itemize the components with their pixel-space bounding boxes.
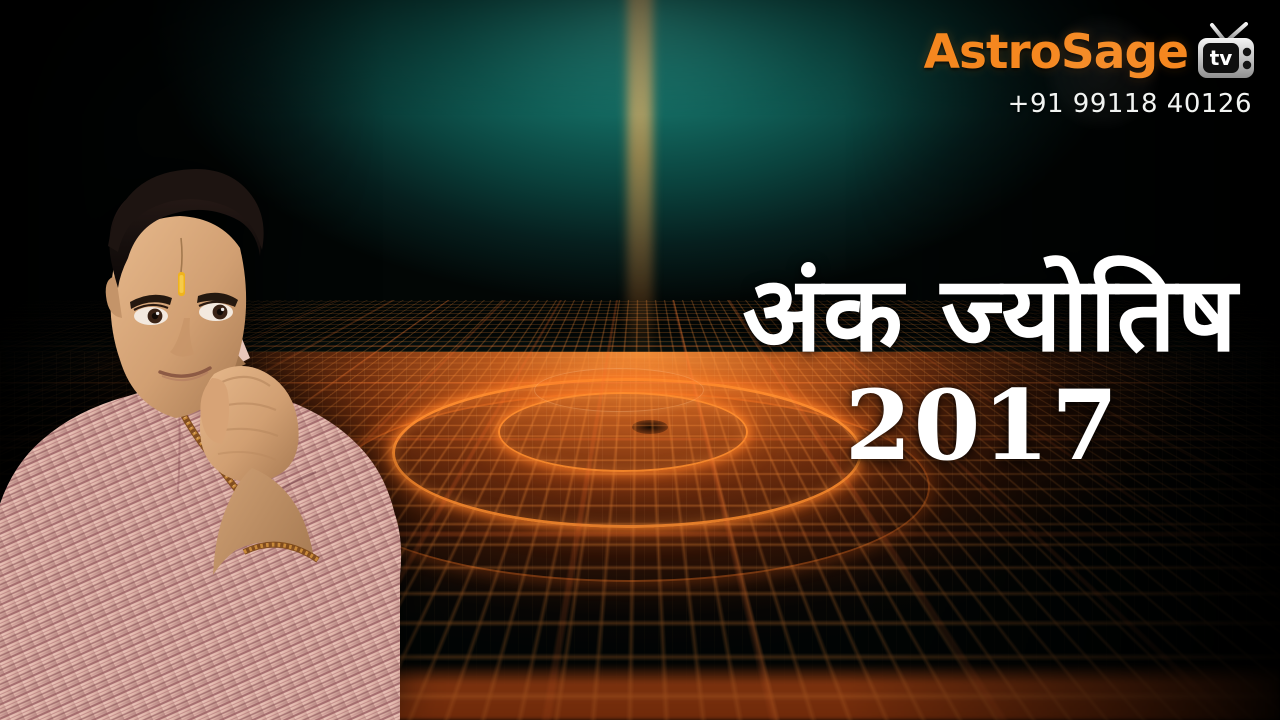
brand-wordmark: AstroSage bbox=[924, 29, 1188, 76]
video-thumbnail: AstroSage bbox=[0, 0, 1280, 720]
astrosage-tv-logo[interactable]: AstroSage bbox=[898, 22, 1258, 119]
retro-tv-icon: tv bbox=[1194, 22, 1258, 82]
title-headline: अंक ज्योतिष bbox=[578, 262, 1238, 366]
title-block: अंक ज्योतिष 2017 bbox=[578, 262, 1238, 474]
title-year: 2017 bbox=[578, 378, 1238, 474]
tv-badge-label: tv bbox=[1210, 46, 1233, 70]
contact-phone-number: +91 99118 40126 bbox=[898, 89, 1258, 119]
astrologer-portrait bbox=[0, 120, 440, 720]
